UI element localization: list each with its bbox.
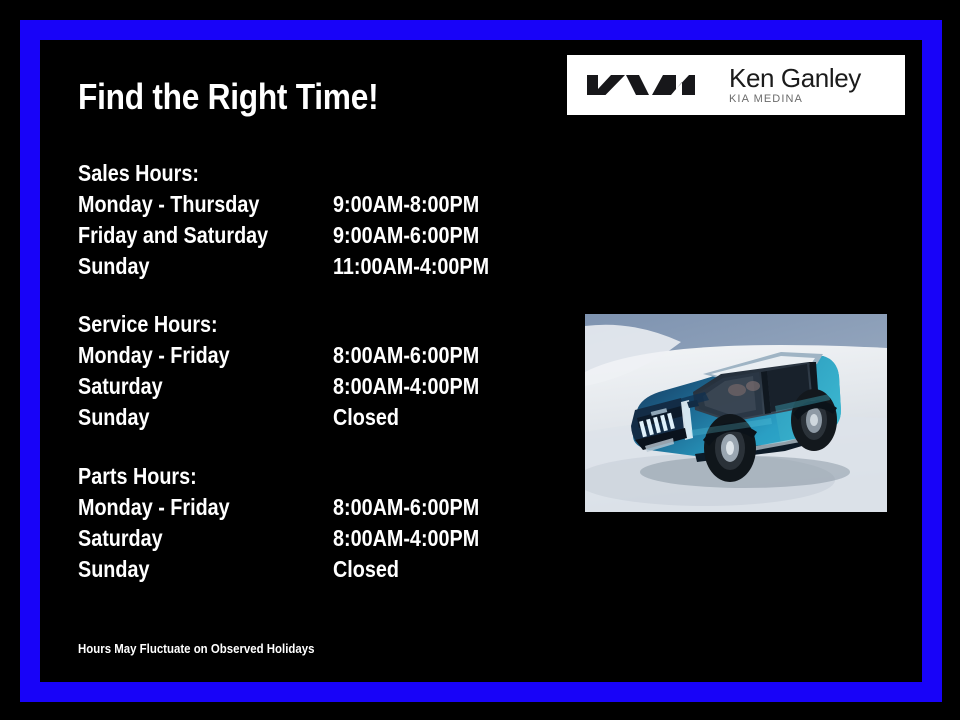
hours-row-time: 8:00AM-4:00PM <box>333 523 479 554</box>
hours-row-time: 9:00AM-6:00PM <box>333 220 479 251</box>
hours-row-day: Saturday <box>78 523 163 554</box>
hours-row: Sunday Closed <box>78 554 548 585</box>
sales-hours-block: Sales Hours: Monday - Thursday 9:00AM-8:… <box>78 158 548 282</box>
hours-row: Monday - Thursday 9:00AM-8:00PM <box>78 189 548 220</box>
sales-hours-heading: Sales Hours: <box>78 158 482 189</box>
hours-row: Monday - Friday 8:00AM-6:00PM <box>78 340 548 371</box>
kia-ev9-suv-photo <box>585 314 887 512</box>
page-title: Find the Right Time! <box>78 76 378 118</box>
hours-row: Saturday 8:00AM-4:00PM <box>78 371 548 402</box>
parts-hours-heading: Parts Hours: <box>78 461 482 492</box>
parts-hours-block: Parts Hours: Monday - Friday 8:00AM-6:00… <box>78 461 548 585</box>
hours-row-time: Closed <box>333 554 399 585</box>
hours-row-time: 8:00AM-6:00PM <box>333 340 479 371</box>
service-hours-block: Service Hours: Monday - Friday 8:00AM-6:… <box>78 309 548 433</box>
hours-slide: Find the Right Time! Sales Hours: Monday… <box>0 0 960 720</box>
hours-row-day: Sunday <box>78 554 149 585</box>
hours-row-time: 8:00AM-6:00PM <box>333 492 479 523</box>
dealer-name: Ken Ganley <box>729 65 861 92</box>
hours-row-day: Friday and Saturday <box>78 220 268 251</box>
hours-row-time: 8:00AM-4:00PM <box>333 371 479 402</box>
hours-row: Saturday 8:00AM-4:00PM <box>78 523 548 554</box>
hours-row: Sunday 11:00AM-4:00PM <box>78 251 548 282</box>
hours-row-day: Sunday <box>78 402 149 433</box>
hours-row-time: 11:00AM-4:00PM <box>333 251 489 282</box>
slide-content: Find the Right Time! Sales Hours: Monday… <box>0 0 960 720</box>
dealer-logo-text: Ken Ganley KIA MEDINA <box>729 65 861 106</box>
hours-row-day: Monday - Thursday <box>78 189 259 220</box>
hours-row-day: Saturday <box>78 371 163 402</box>
hours-row-time: Closed <box>333 402 399 433</box>
hours-row: Monday - Friday 8:00AM-6:00PM <box>78 492 548 523</box>
dealer-logo: Ken Ganley KIA MEDINA <box>567 55 905 115</box>
hours-row: Friday and Saturday 9:00AM-6:00PM <box>78 220 548 251</box>
hours-row-day: Monday - Friday <box>78 492 230 523</box>
kia-logo-icon <box>583 71 699 99</box>
hours-row: Sunday Closed <box>78 402 548 433</box>
dealer-subtitle: KIA MEDINA <box>729 92 861 106</box>
hours-row-time: 9:00AM-8:00PM <box>333 189 479 220</box>
holiday-disclaimer: Hours May Fluctuate on Observed Holidays <box>78 641 314 656</box>
hours-row-day: Monday - Friday <box>78 340 230 371</box>
service-hours-heading: Service Hours: <box>78 309 482 340</box>
hours-row-day: Sunday <box>78 251 149 282</box>
